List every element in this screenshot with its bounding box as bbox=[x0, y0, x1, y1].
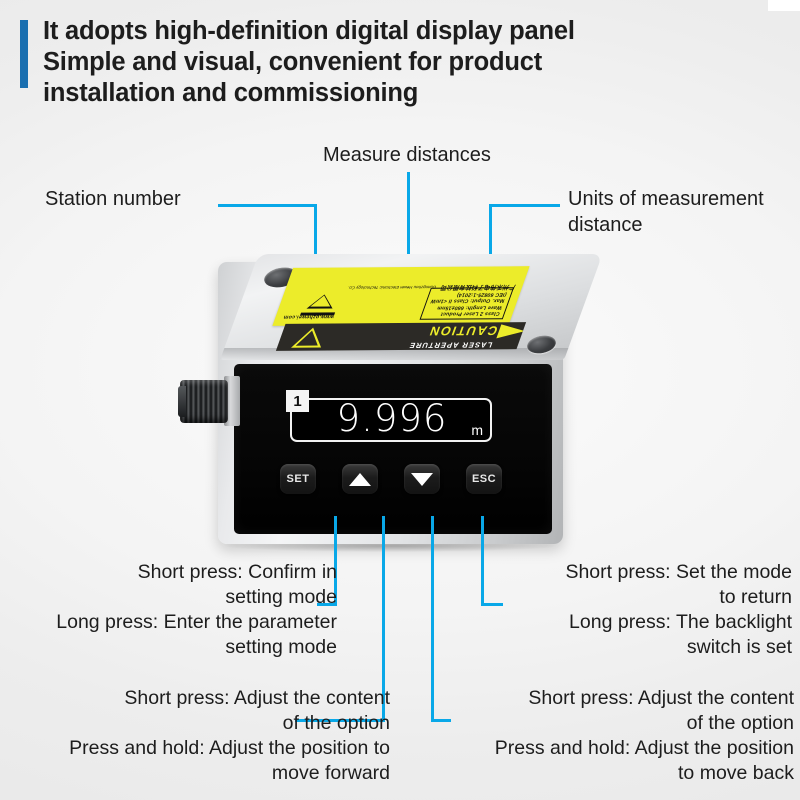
corner-notch bbox=[768, 0, 800, 11]
callout-down-line-1: Short press: Adjust the content bbox=[440, 686, 794, 711]
company-name-cn-text: 广州禾伟电子科技有限公司 bbox=[439, 283, 517, 293]
m12-connector bbox=[178, 370, 240, 432]
laser-spec-line-3: Max. Output: Class II <1mW bbox=[430, 297, 506, 304]
esc-button[interactable]: ESC bbox=[466, 464, 502, 494]
laser-distance-sensor: Class 2 Laser Product Wave Length: 660±1… bbox=[178, 252, 598, 552]
laser-spec-line-1: Class 2 Laser Product bbox=[425, 310, 501, 317]
callout-down-button: Short press: Adjust the content of the o… bbox=[440, 686, 794, 786]
triangle-up-icon bbox=[349, 473, 371, 486]
callout-set-line-1: Short press: Confirm in bbox=[10, 560, 337, 585]
callout-down-line-4: to move back bbox=[440, 761, 794, 786]
callout-down-line-2: of the option bbox=[440, 711, 794, 736]
device-front-panel: 1 9.996 m SET ESC bbox=[234, 364, 552, 534]
callout-measure-distances-text: Measure distances bbox=[323, 142, 553, 168]
company-name-en-text: Guangzhou Hewei Electronic Technology Co… bbox=[347, 285, 437, 291]
callout-set-button: Short press: Confirm in setting mode Lon… bbox=[10, 560, 337, 660]
callout-esc-line-3: Long press: The backlight bbox=[500, 610, 792, 635]
infographic-canvas: It adopts high-definition digital displa… bbox=[0, 0, 800, 800]
headline-line-3: installation and commissioning bbox=[43, 78, 575, 109]
page-title: It adopts high-definition digital displa… bbox=[43, 16, 575, 109]
leader-line-down-v bbox=[431, 516, 434, 722]
callout-measure-distances: Measure distances bbox=[323, 142, 553, 168]
headline-line-1: It adopts high-definition digital displa… bbox=[43, 16, 575, 47]
connector-tip bbox=[178, 386, 186, 417]
laser-beam-symbol-icon bbox=[293, 286, 351, 318]
callout-station-number: Station number bbox=[45, 186, 295, 212]
up-button[interactable] bbox=[342, 464, 378, 494]
callout-units-line-2: distance bbox=[568, 212, 800, 238]
accent-bar bbox=[20, 20, 28, 88]
callout-esc-button: Short press: Set the mode to return Long… bbox=[500, 560, 792, 660]
down-button[interactable] bbox=[404, 464, 440, 494]
caution-band: CAUTION LASER APERTURE bbox=[276, 322, 526, 351]
laser-aperture-text: LASER APERTURE bbox=[407, 340, 493, 350]
lcd-display: 1 9.996 m bbox=[290, 398, 492, 442]
callout-up-line-3: Press and hold: Adjust the position to bbox=[8, 736, 390, 761]
callout-set-line-2: setting mode bbox=[10, 585, 337, 610]
callout-up-button: Short press: Adjust the content of the o… bbox=[8, 686, 390, 786]
station-number-badge: 1 bbox=[286, 390, 309, 412]
distance-unit-label: m bbox=[471, 422, 483, 438]
leader-line-esc-v bbox=[481, 516, 484, 606]
callout-up-line-2: of the option bbox=[8, 711, 390, 736]
laser-warning-triangle-icon bbox=[291, 328, 328, 348]
callout-esc-line-1: Short press: Set the mode bbox=[500, 560, 792, 585]
callout-up-line-4: move forward bbox=[8, 761, 390, 786]
callout-units-line-1: Units of measurement bbox=[568, 186, 800, 212]
leader-line-units-h bbox=[490, 204, 560, 207]
caution-word-text: CAUTION bbox=[426, 323, 499, 337]
connector-thread bbox=[180, 380, 228, 423]
callout-up-line-1: Short press: Adjust the content bbox=[8, 686, 390, 711]
callout-set-line-4: setting mode bbox=[10, 635, 337, 660]
distance-reading-value: 9.996 bbox=[322, 397, 462, 441]
caution-label-yellow: Class 2 Laser Product Wave Length: 660±1… bbox=[272, 266, 529, 326]
callout-down-line-3: Press and hold: Adjust the position bbox=[440, 736, 794, 761]
callout-station-number-text: Station number bbox=[45, 186, 295, 212]
callout-esc-line-4: switch is set bbox=[500, 635, 792, 660]
button-row: SET ESC bbox=[280, 464, 510, 498]
headline-block: It adopts high-definition digital displa… bbox=[20, 16, 720, 109]
laser-spec-line-2: Wave Length: 660±15nm bbox=[427, 303, 503, 310]
triangle-down-icon bbox=[411, 473, 433, 486]
callout-set-line-3: Long press: Enter the parameter bbox=[10, 610, 337, 635]
set-button[interactable]: SET bbox=[280, 464, 316, 494]
callout-units: Units of measurement distance bbox=[568, 186, 800, 238]
leader-line-station-h bbox=[218, 204, 317, 207]
headline-line-2: Simple and visual, convenient for produc… bbox=[43, 47, 575, 78]
callout-esc-line-2: to return bbox=[500, 585, 792, 610]
